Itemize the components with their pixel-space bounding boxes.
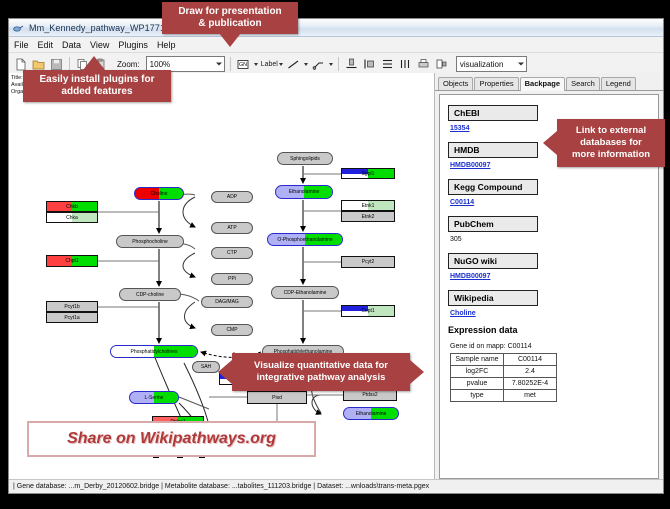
metabolite-node[interactable]: Sphingolipids: [277, 152, 333, 165]
metabolite-node[interactable]: CMP: [211, 324, 253, 336]
label-tool[interactable]: Label: [261, 61, 283, 68]
datanode-icon[interactable]: GN: [236, 57, 251, 72]
callout-plugins: Easily install plugins for added feature…: [23, 70, 171, 102]
gene-id-label: Gene id on mapp: C00114: [450, 343, 658, 350]
backpage-header-pubchem: PubChem: [448, 216, 538, 232]
cell-label: Sample name: [451, 354, 504, 366]
node-label: Etnk2: [362, 214, 375, 220]
tab-search[interactable]: Search: [566, 77, 600, 90]
table-row: type met: [451, 390, 557, 402]
node-label: CMP: [226, 327, 237, 333]
callout-share-text: Share on Wikipathways.org: [67, 430, 276, 448]
node-label: Etnk1: [362, 203, 375, 209]
cell-label: log2FC: [451, 366, 504, 378]
callout-plugins-arrow: [83, 56, 105, 70]
callout-visualize-line1: Visualize quantitative data for: [254, 360, 388, 372]
node-label: Pcyt1b: [64, 304, 79, 310]
callout-visualize-arrow-right: [410, 360, 424, 384]
metabolite-node[interactable]: Phosphatidylcholines: [110, 345, 198, 358]
callout-share: Share on Wikipathways.org: [27, 421, 316, 457]
metabolite-node[interactable]: CTP: [211, 247, 253, 259]
node-label: CDP-Ethanolamine: [284, 290, 327, 296]
gene-node[interactable]: Pcyt1a: [46, 312, 98, 323]
gene-node[interactable]: Chkb: [46, 201, 98, 212]
status-text: | Gene database: ...m_Derby_20120602.bri…: [13, 483, 429, 490]
metabolite-node[interactable]: ADP: [211, 191, 253, 203]
gene-node[interactable]: Pcyt1b: [46, 301, 98, 312]
node-label: DAG/MAG: [215, 299, 239, 305]
metabolite-node[interactable]: DAG/MAG: [201, 296, 253, 308]
node-label: Choline: [151, 191, 168, 197]
node-label: Phosphatidylcholines: [131, 349, 178, 355]
callout-visualize-line2: integrative pathway analysis: [254, 372, 388, 384]
chevron-down-icon: [279, 63, 283, 66]
metabolite-node[interactable]: SAH: [192, 361, 220, 373]
cell-value: met: [504, 390, 557, 402]
node-label: Cept1: [361, 308, 374, 314]
metabolite-node[interactable]: CDP-Ethanolamine: [271, 286, 339, 299]
node-label: Ptdss2: [362, 392, 377, 398]
callout-draw-line2: & publication: [178, 18, 281, 30]
zoom-value: 100%: [150, 60, 170, 69]
menu-item-plugins[interactable]: Plugins: [118, 40, 148, 50]
tab-backpage[interactable]: Backpage: [520, 77, 565, 91]
gene-node[interactable]: Pcyt2: [341, 256, 395, 268]
screenshot-root: Mm_Kennedy_pathway_WP1771_45176.gpml Fil…: [0, 0, 670, 509]
menu-item-help[interactable]: Help: [157, 40, 176, 50]
distribute-horizontal-icon[interactable]: [398, 57, 413, 72]
datanode-dropdown[interactable]: [254, 63, 258, 66]
metabolite-node[interactable]: Ethanolamine: [275, 185, 333, 199]
node-label: Pcyt1a: [64, 315, 79, 321]
toolbar-separator-2: [230, 57, 231, 71]
metabolite-node[interactable]: CDP-choline: [119, 288, 181, 301]
backpage-link-wikipedia[interactable]: Choline: [450, 310, 658, 317]
table-row: pvalue 7.80252E-4: [451, 378, 557, 390]
node-label: Ethanolamine: [289, 189, 320, 195]
node-label: Chpt1: [65, 258, 78, 264]
node-label: Ethanolamine: [356, 411, 387, 417]
side-panel-tabs: Objects Properties Backpage Search Legen…: [435, 76, 663, 91]
node-label: CTP: [227, 250, 237, 256]
callout-plugins-line2: added features: [39, 86, 154, 98]
cell-value: 2.4: [504, 366, 557, 378]
distribute-vertical-icon[interactable]: [380, 57, 395, 72]
metabolite-node[interactable]: ATP: [211, 222, 253, 234]
node-label: Sphingolipids: [290, 156, 320, 162]
chevron-down-icon: [518, 63, 524, 66]
title-bar: Mm_Kennedy_pathway_WP1771_45176.gpml: [9, 19, 663, 37]
node-label: ATP: [227, 225, 236, 231]
toolbar-separator-3: [338, 57, 339, 71]
cell-label: pvalue: [451, 378, 504, 390]
chevron-down-icon: [304, 63, 308, 66]
metabolite-node[interactable]: Phosphocholine: [116, 235, 184, 248]
visualization-combo[interactable]: visualization: [456, 56, 527, 72]
backpage-header-kegg: Kegg Compound: [448, 179, 538, 195]
node-label: Chkb: [66, 204, 78, 210]
node-label: Pisd: [272, 395, 282, 401]
gene-node[interactable]: Sgpl1: [341, 168, 395, 179]
node-label: Phosphocholine: [132, 239, 168, 245]
callout-visualize-arrow-left: [218, 360, 232, 384]
tab-properties[interactable]: Properties: [474, 77, 518, 90]
gene-node[interactable]: Pisd: [247, 391, 307, 404]
metabolite-node[interactable]: Choline: [134, 187, 184, 200]
node-label: CDP-choline: [136, 292, 164, 298]
backpage-link-nugo[interactable]: HMDB00097: [450, 273, 658, 280]
tab-legend[interactable]: Legend: [601, 77, 636, 90]
metabolite-node[interactable]: PPi: [211, 273, 253, 285]
callout-links-line2: databases for: [572, 137, 650, 149]
align-bottom-icon[interactable]: [344, 57, 359, 72]
metabolite-node[interactable]: O-Phosphoethanolamine: [267, 233, 343, 246]
gene-node[interactable]: Etnk2: [341, 211, 395, 222]
table-row: log2FC 2.4: [451, 366, 557, 378]
interaction-tool-icon[interactable]: [311, 57, 326, 72]
backpage-header-nugo: NuGO wiki: [448, 253, 538, 269]
gene-node[interactable]: Etnk1: [341, 200, 395, 211]
gene-node[interactable]: Chka: [46, 212, 98, 223]
callout-visualize: Visualize quantitative data for integrat…: [232, 353, 410, 391]
backpage-link-kegg[interactable]: C00114: [450, 199, 658, 206]
backpage-value-pubchem: 305: [450, 236, 658, 243]
node-label: Pcyt2: [362, 259, 375, 265]
menu-item-view[interactable]: View: [90, 40, 109, 50]
callout-links-line1: Link to external: [572, 125, 650, 137]
menu-bar: File Edit Data View Plugins Help: [9, 37, 663, 53]
node-label: ADP: [227, 194, 237, 200]
cell-value: C00114: [504, 354, 557, 366]
callout-links-arrow: [543, 131, 557, 155]
callout-draw-line1: Draw for presentation: [178, 6, 281, 18]
gene-node[interactable]: Cept1: [341, 305, 395, 317]
metabolite-node[interactable]: L-Serine: [129, 391, 179, 404]
callout-draw-arrow: [219, 33, 241, 47]
expression-data-title: Expression data: [448, 325, 658, 335]
backpage-header-hmdb: HMDB: [448, 142, 538, 158]
cell-value: 7.80252E-4: [504, 378, 557, 390]
pathvisio-icon: [13, 22, 24, 33]
chevron-down-icon: [216, 63, 222, 66]
menu-item-data[interactable]: Data: [62, 40, 81, 50]
line-dropdown[interactable]: [304, 63, 308, 66]
toolbar-separator-1: [69, 57, 70, 71]
align-left-icon[interactable]: [362, 57, 377, 72]
label-tool-text: Label: [261, 61, 278, 68]
svg-text:GN: GN: [239, 62, 247, 68]
status-bar: | Gene database: ...m_Derby_20120602.bri…: [9, 479, 663, 493]
callout-plugins-line1: Easily install plugins for: [39, 74, 154, 86]
metabolite-node[interactable]: Ethanolamine: [343, 407, 399, 420]
interaction-dropdown[interactable]: [329, 63, 333, 66]
menu-item-file[interactable]: File: [14, 40, 29, 50]
line-tool-icon[interactable]: [286, 57, 301, 72]
print-icon[interactable]: [416, 57, 431, 72]
chevron-down-icon: [254, 63, 258, 66]
callout-links-line3: more information: [572, 149, 650, 161]
tab-objects[interactable]: Objects: [438, 77, 473, 90]
chevron-down-icon: [329, 63, 333, 66]
menu-item-edit[interactable]: Edit: [38, 40, 54, 50]
node-label: L-Serine: [145, 395, 164, 401]
node-label: Sgpl1: [362, 171, 375, 177]
node-label: O-Phosphoethanolamine: [277, 237, 332, 243]
node-label: Chka: [66, 215, 78, 221]
table-row: Sample name C00114: [451, 354, 557, 366]
callout-links: Link to external databases for more info…: [557, 119, 665, 167]
cell-label: type: [451, 390, 504, 402]
order-front-icon[interactable]: [434, 57, 449, 72]
zoom-label: Zoom:: [117, 60, 140, 69]
gene-node[interactable]: Chpt1: [46, 255, 98, 267]
expression-data-table: Sample name C00114 log2FC 2.4 pvalue 7.8…: [450, 353, 557, 402]
visualization-value: visualization: [460, 60, 504, 69]
node-label: PPi: [228, 276, 236, 282]
backpage-header-chebi: ChEBI: [448, 105, 538, 121]
backpage-header-wikipedia: Wikipedia: [448, 290, 538, 306]
callout-draw: Draw for presentation & publication: [162, 2, 298, 34]
node-label: SAH: [201, 364, 211, 370]
